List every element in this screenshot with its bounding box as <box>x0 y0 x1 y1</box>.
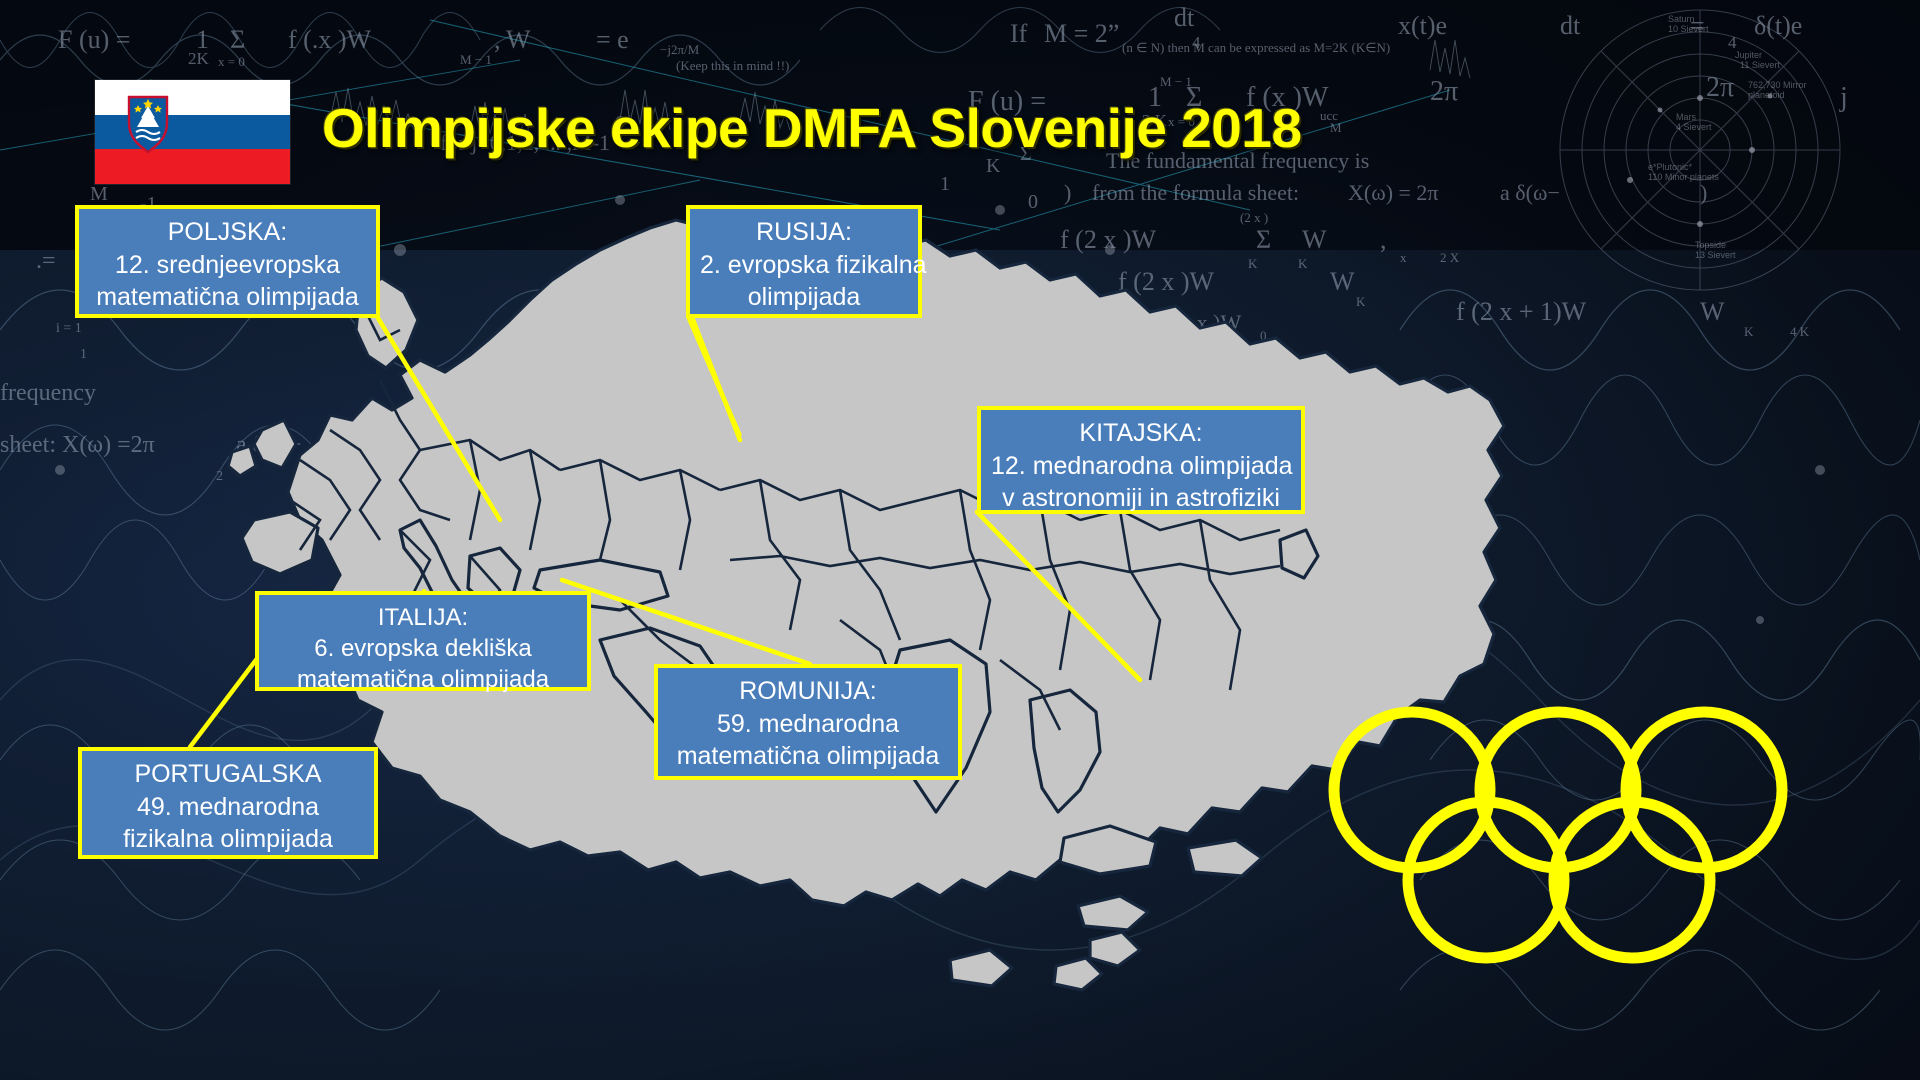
callout-line3-portugalska: fizikalna olimpijada <box>92 823 364 856</box>
callout-line3-rusija: olimpijada <box>700 281 908 314</box>
callout-line3-italija: matematična olimpijada <box>269 664 577 695</box>
callout-country-romunija: ROMUNIJA: <box>668 675 948 708</box>
callout-country-rusija: RUSIJA: <box>700 216 908 249</box>
callout-italija[interactable]: ITALIJA: 6. evropska dekliška matematičn… <box>255 591 591 691</box>
callout-country-portugalska: PORTUGALSKA <box>92 758 364 791</box>
page-title: Olimpijske ekipe DMFA Slovenije 2018 <box>322 100 1262 158</box>
callout-poljska[interactable]: POLJSKA: 12. srednjeevropska matematična… <box>75 205 380 318</box>
slide-canvas: Saturn 10 Sievert Jupiter 11 Sievert 762… <box>0 0 1920 1080</box>
callout-line2-rusija: 2. evropska fizikalna <box>700 249 908 282</box>
slovenian-coat-of-arms-icon <box>95 80 290 184</box>
callout-line2-romunija: 59. mednarodna <box>668 708 948 741</box>
callout-line3-kitajska: v astronomiji in astrofiziki <box>991 482 1291 515</box>
callout-country-italija: ITALIJA: <box>269 602 577 633</box>
callout-country-kitajska: KITAJSKA: <box>991 417 1291 450</box>
callout-rusija[interactable]: RUSIJA: 2. evropska fizikalna olimpijada <box>686 205 922 318</box>
callout-romunija[interactable]: ROMUNIJA: 59. mednarodna matematična oli… <box>654 664 962 780</box>
slovenian-flag <box>95 80 290 184</box>
callout-portugalska[interactable]: PORTUGALSKA 49. mednarodna fizikalna oli… <box>78 747 378 859</box>
callout-line2-poljska: 12. srednjeevropska <box>89 249 366 282</box>
callout-kitajska[interactable]: KITAJSKA: 12. mednarodna olimpijada v as… <box>977 406 1305 514</box>
callout-country-poljska: POLJSKA: <box>89 216 366 249</box>
callout-line3-poljska: matematična olimpijada <box>89 281 366 314</box>
callout-line2-kitajska: 12. mednarodna olimpijada <box>991 450 1291 483</box>
callout-line2-italija: 6. evropska dekliška <box>269 633 577 664</box>
callout-line2-portugalska: 49. mednarodna <box>92 791 364 824</box>
callout-line3-romunija: matematična olimpijada <box>668 740 948 773</box>
